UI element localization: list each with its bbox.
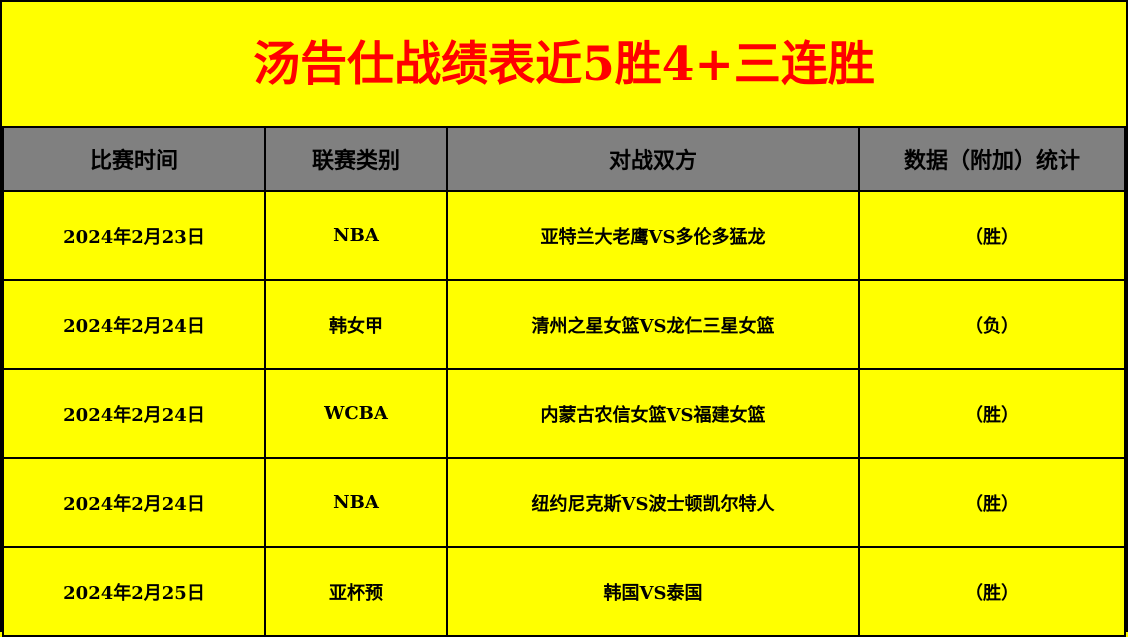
cell-match: 纽约尼克斯VS波士顿凯尔特人 [447,458,859,547]
cell-time: 2024年2月24日 [3,369,265,458]
cell-league: NBA [265,191,447,280]
title-banner: 汤告仕战绩表近5胜4+三连胜 [2,2,1126,126]
table-body: 2024年2月23日 NBA 亚特兰大老鹰VS多伦多猛龙 （胜） 2024年2月… [3,191,1125,636]
cell-result: （胜） [859,547,1125,636]
match-results-table: 比赛时间 联赛类别 对战双方 数据（附加）统计 2024年2月23日 NBA 亚… [2,126,1126,637]
cell-result: （负） [859,280,1125,369]
cell-league: 亚杯预 [265,547,447,636]
results-page: 汤告仕战绩表近5胜4+三连胜 比赛时间 联赛类别 对战双方 数据（附加）统计 2… [0,0,1128,632]
cell-time: 2024年2月23日 [3,191,265,280]
table-row: 2024年2月24日 NBA 纽约尼克斯VS波士顿凯尔特人 （胜） [3,458,1125,547]
cell-match: 韩国VS泰国 [447,547,859,636]
table-header: 比赛时间 联赛类别 对战双方 数据（附加）统计 [3,127,1125,191]
table-row: 2024年2月24日 韩女甲 清州之星女篮VS龙仁三星女篮 （负） [3,280,1125,369]
page-title: 汤告仕战绩表近5胜4+三连胜 [253,41,875,88]
column-header-stat: 数据（附加）统计 [859,127,1125,191]
cell-match: 内蒙古农信女篮VS福建女篮 [447,369,859,458]
column-header-time: 比赛时间 [3,127,265,191]
cell-time: 2024年2月25日 [3,547,265,636]
cell-league: NBA [265,458,447,547]
cell-league: 韩女甲 [265,280,447,369]
column-header-match: 对战双方 [447,127,859,191]
cell-league: WCBA [265,369,447,458]
table-header-row: 比赛时间 联赛类别 对战双方 数据（附加）统计 [3,127,1125,191]
cell-time: 2024年2月24日 [3,280,265,369]
cell-result: （胜） [859,458,1125,547]
cell-result: （胜） [859,191,1125,280]
table-row: 2024年2月25日 亚杯预 韩国VS泰国 （胜） [3,547,1125,636]
cell-match: 亚特兰大老鹰VS多伦多猛龙 [447,191,859,280]
column-header-league: 联赛类别 [265,127,447,191]
cell-result: （胜） [859,369,1125,458]
cell-match: 清州之星女篮VS龙仁三星女篮 [447,280,859,369]
cell-time: 2024年2月24日 [3,458,265,547]
table-row: 2024年2月24日 WCBA 内蒙古农信女篮VS福建女篮 （胜） [3,369,1125,458]
table-row: 2024年2月23日 NBA 亚特兰大老鹰VS多伦多猛龙 （胜） [3,191,1125,280]
